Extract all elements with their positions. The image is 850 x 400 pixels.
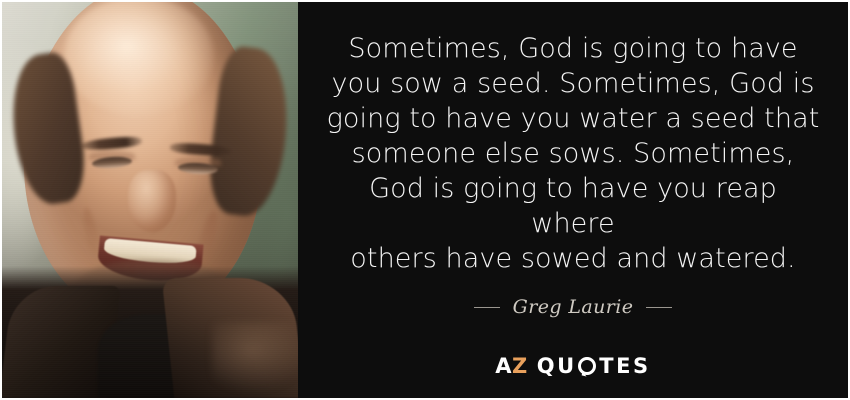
quote-line: someone else sows. Sometimes, (326, 136, 820, 171)
attribution-dash-left (474, 307, 500, 308)
logo-quotes-wordmark: QUTES (537, 354, 651, 378)
logo-letter-z: Z (512, 354, 528, 378)
quote-line: others have sowed and watered. (326, 241, 820, 276)
logo-quotes-prefix: QU (537, 354, 577, 378)
quote-line: you sow a seed. Sometimes, God is (326, 66, 820, 101)
quote-panel: Sometimes, God is going to have you sow … (298, 2, 848, 398)
speech-bubble-icon (578, 357, 596, 375)
quote-line: God is going to have you reap where (326, 171, 820, 241)
portrait-jacket-sheen (212, 322, 298, 392)
logo-quotes-suffix: TES (599, 354, 651, 378)
logo-letter-a: A (495, 354, 512, 378)
quote-text: Sometimes, God is going to have you sow … (326, 31, 820, 276)
attribution: Greg Laurie (474, 296, 673, 318)
logo-az-wordmark: AZ (495, 354, 528, 378)
author-portrait-photo (2, 2, 298, 398)
author-name[interactable]: Greg Laurie (513, 296, 634, 318)
quote-line: going to have you water a seed that (326, 101, 820, 136)
quote-line: Sometimes, God is going to have (326, 31, 820, 66)
portrait-nose (128, 170, 176, 232)
quote-poster: Sometimes, God is going to have you sow … (0, 0, 850, 400)
azquotes-logo[interactable]: AZ QUTES (298, 354, 848, 378)
attribution-dash-right (646, 307, 672, 308)
